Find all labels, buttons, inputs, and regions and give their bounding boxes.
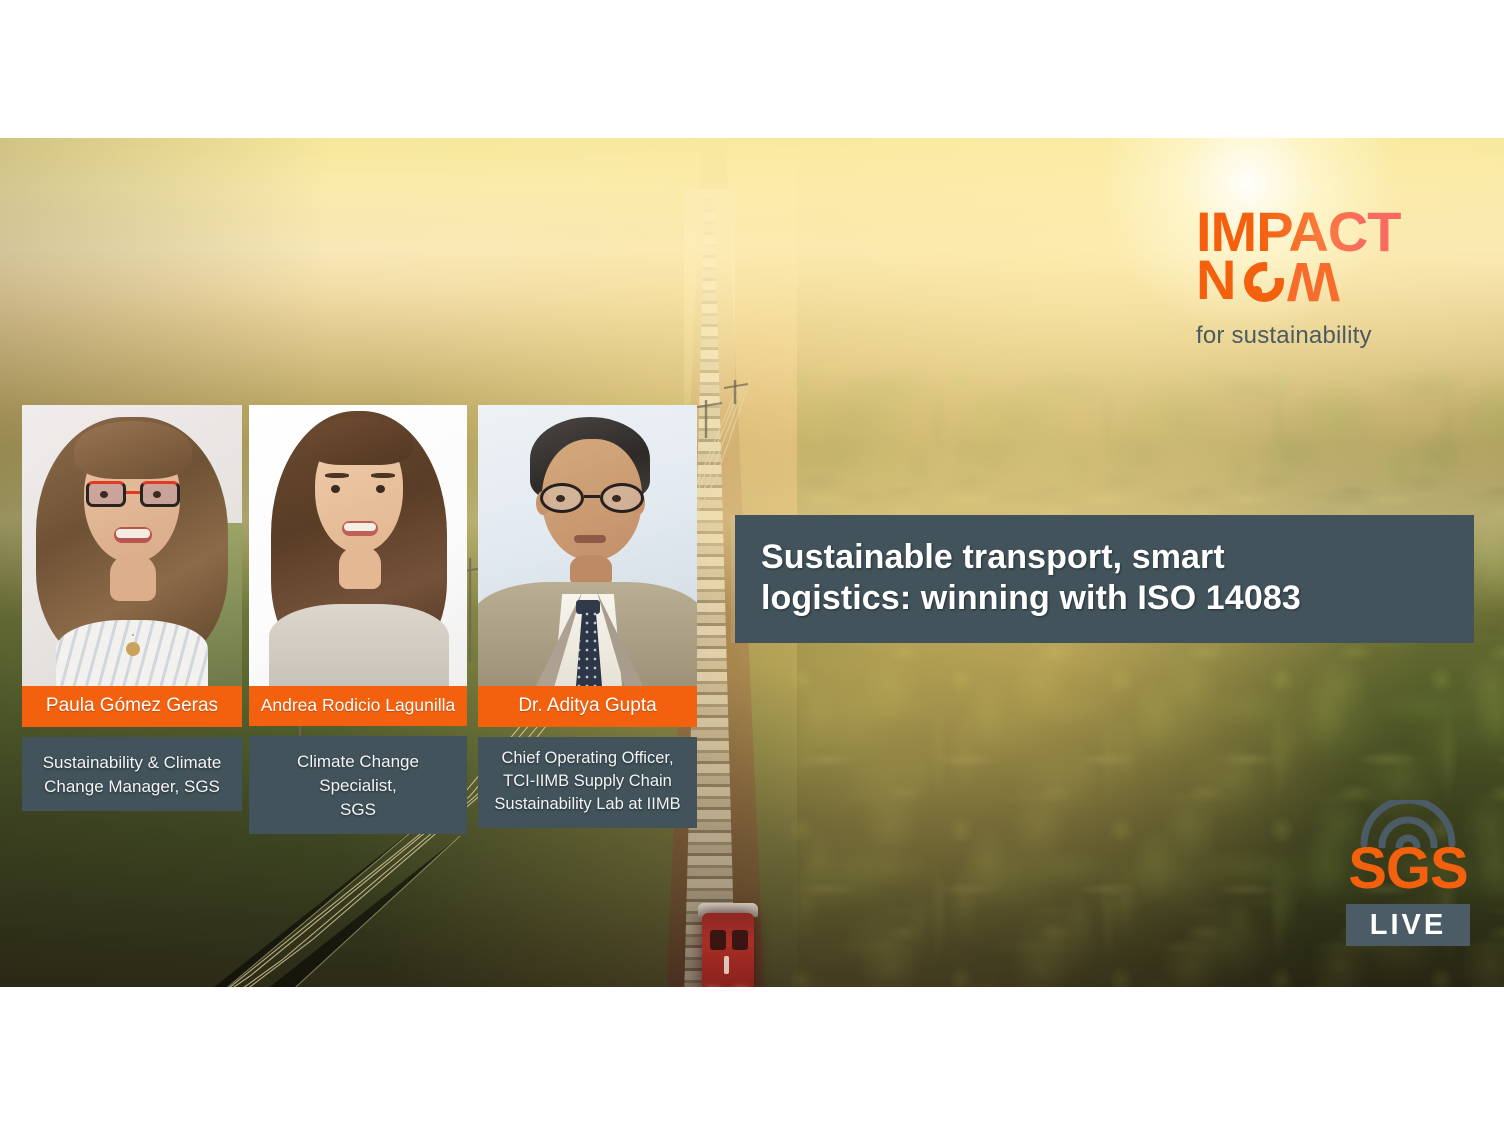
sgs-live-logo: SGS LIVE (1338, 800, 1478, 950)
eye-right (612, 495, 621, 502)
impact-now-logo: IMPACT N W for sustainability (1196, 208, 1406, 350)
eyebrow-left (325, 473, 349, 478)
locomotive-window-left (710, 930, 726, 950)
eye-left (556, 495, 565, 502)
logo-now-letter-w: W (1287, 258, 1339, 306)
speaker-2-photo (249, 405, 467, 686)
teeth (116, 529, 150, 538)
sgs-wordmark: SGS (1338, 840, 1478, 898)
speaker-1-photo (22, 405, 242, 686)
hair-fringe (307, 417, 413, 465)
speaker-1-role: Sustainability & Climate Change Manager,… (22, 737, 242, 811)
speaker-1-name: Paula Gómez Geras (22, 686, 242, 727)
speaker-card-2: Andrea Rodicio Lagunilla Climate Change … (249, 405, 467, 834)
speaker-3-role-line-1: Chief Operating Officer, (486, 747, 689, 770)
eye-left (100, 491, 108, 498)
slide-canvas: IMPACT N W for sustainability Sustainabl… (0, 0, 1504, 1128)
live-label: LIVE (1346, 904, 1470, 946)
speaker-2-name: Andrea Rodicio Lagunilla (249, 686, 467, 726)
logo-tagline: for sustainability (1196, 322, 1406, 350)
speaker-card-1: Paula Gómez Geras Sustainability & Clima… (22, 405, 242, 811)
speaker-3-role: Chief Operating Officer, TCI-IIMB Supply… (478, 737, 697, 828)
eye-right (376, 485, 385, 493)
speaker-1-role-line-1: Sustainability & Climate (30, 751, 234, 775)
neck (339, 547, 381, 589)
speaker-2-role-line-2: SGS (257, 798, 459, 822)
logo-now-inverted-o-icon (1244, 262, 1284, 302)
speaker-2-role: Climate Change Specialist, SGS (249, 736, 467, 834)
speaker-3-role-line-2: TCI-IIMB Supply Chain (486, 770, 689, 793)
logo-now-dot-icon (1251, 286, 1262, 297)
neck (110, 555, 156, 601)
webinar-title-banner: Sustainable transport, smart logistics: … (735, 515, 1474, 643)
logo-now-text: N W (1196, 256, 1406, 306)
locomotive-window-right (732, 930, 748, 950)
beige-cardigan (269, 604, 449, 686)
eye-left (331, 485, 340, 493)
locomotive-body (702, 913, 754, 987)
hair-fringe (74, 421, 192, 479)
eyebrow-right (371, 473, 395, 478)
necklace-pendant-icon (126, 642, 140, 656)
neck (570, 555, 612, 585)
speaker-1-role-line-2: Change Manager, SGS (30, 775, 234, 799)
speaker-3-name: Dr. Aditya Gupta (478, 686, 697, 727)
speaker-3-role-line-3: Sustainability Lab at IIMB (486, 793, 689, 816)
mouth (574, 535, 606, 543)
webinar-title-line-2: logistics: winning with ISO 14083 (761, 578, 1448, 619)
speaker-card-3: Dr. Aditya Gupta Chief Operating Officer… (478, 405, 697, 828)
teeth (344, 523, 376, 531)
speaker-2-role-line-1: Climate Change Specialist, (257, 750, 459, 798)
speaker-3-photo (478, 405, 697, 686)
eye-right (153, 491, 161, 498)
logo-now-letter-n: N (1196, 256, 1235, 304)
webinar-title-line-1: Sustainable transport, smart (761, 537, 1448, 578)
locomotive-front-stripe (724, 956, 729, 974)
